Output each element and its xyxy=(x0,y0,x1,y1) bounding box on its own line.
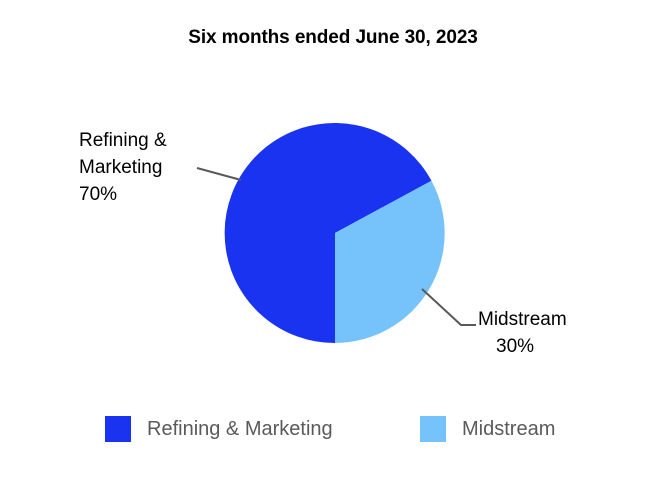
chart-legend: Refining & Marketing Midstream xyxy=(0,414,666,446)
leader-line-refining-marketing xyxy=(197,168,241,180)
legend-item-refining-marketing[interactable]: Refining & Marketing xyxy=(105,414,333,444)
callout-value-percent: 30% xyxy=(478,333,567,360)
callout-label-line1: Refining & xyxy=(79,127,167,154)
refining-marketing-callout: Refining & Marketing 70% xyxy=(79,127,167,208)
midstream-callout: Midstream 30% xyxy=(478,306,567,360)
legend-swatch-icon xyxy=(420,416,446,442)
legend-swatch-icon xyxy=(105,416,131,442)
legend-label: Midstream xyxy=(462,418,555,441)
legend-label: Refining & Marketing xyxy=(147,418,333,441)
pie-chart-figure: Six months ended June 30, 2023 Refining … xyxy=(0,0,666,480)
leader-line-midstream xyxy=(422,289,476,325)
pie-chart-graphic xyxy=(0,0,666,480)
callout-label-line1: Midstream xyxy=(478,306,567,333)
callout-label-line2: Marketing xyxy=(79,154,167,181)
legend-item-midstream[interactable]: Midstream xyxy=(420,414,555,444)
callout-value-percent: 70% xyxy=(79,181,167,208)
